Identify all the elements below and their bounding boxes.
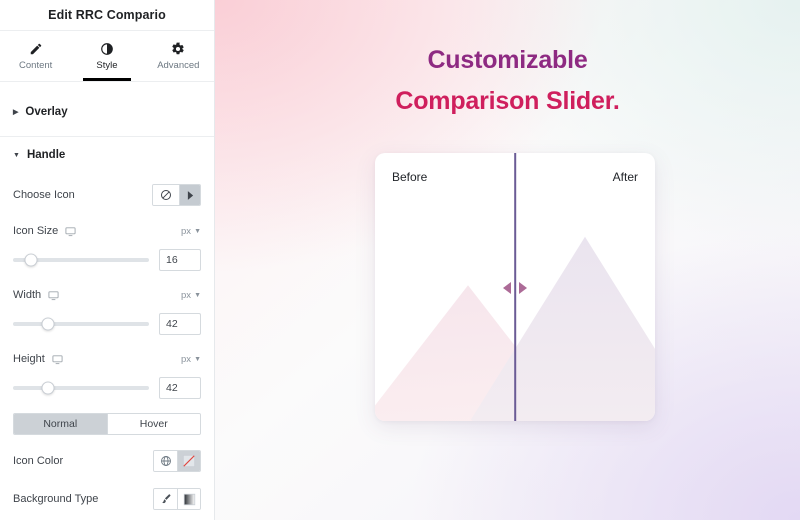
choose-icon-row: Choose Icon [0, 181, 214, 209]
height-unit-label: px [181, 354, 191, 365]
width-slider[interactable] [13, 322, 149, 326]
no-color-swatch-icon[interactable] [177, 451, 200, 471]
height-slider-thumb[interactable] [42, 382, 55, 395]
gear-icon [171, 41, 185, 56]
icon-color-controls [153, 450, 201, 472]
width-row: Width px ▼ [0, 281, 214, 309]
height-slider-row: 42 [0, 373, 214, 403]
no-symbol-icon[interactable] [153, 185, 179, 205]
before-label: Before [392, 170, 427, 184]
tab-style-label: Style [96, 60, 117, 71]
page-headline: Customizable Comparison Slider. [215, 40, 800, 122]
section-overlay[interactable]: ▶ Overlay [0, 94, 214, 130]
chevron-down-icon: ▼ [194, 228, 201, 235]
icon-size-unit-label: px [181, 226, 191, 237]
width-unit-label: px [181, 290, 191, 301]
caret-down-icon: ▼ [13, 152, 20, 159]
icon-size-text: Icon Size [13, 225, 58, 237]
tab-style[interactable]: Style [71, 31, 142, 81]
width-label: Width [13, 289, 181, 301]
height-row: Height px ▼ [0, 345, 214, 373]
contrast-icon [100, 41, 114, 56]
background-type-row: Background Type [0, 485, 214, 513]
icon-size-slider-row: 16 [0, 245, 214, 275]
height-unit[interactable]: px ▼ [181, 354, 201, 365]
panel-title: Edit RRC Compario [0, 0, 214, 30]
editor-window: Edit RRC Compario Content Style Advanced [0, 0, 800, 520]
icon-size-unit[interactable]: px ▼ [181, 226, 201, 237]
desktop-icon[interactable] [48, 290, 59, 301]
height-slider[interactable] [13, 386, 149, 390]
comparison-slider[interactable]: Before After [375, 153, 655, 421]
caret-right-icon: ▶ [13, 109, 18, 116]
after-label: After [613, 170, 638, 184]
settings-panel: Edit RRC Compario Content Style Advanced [0, 0, 215, 520]
desktop-icon[interactable] [65, 226, 76, 237]
icon-size-label: Icon Size [13, 225, 181, 237]
background-type-controls [153, 488, 201, 510]
width-slider-row: 42 [0, 309, 214, 339]
tab-content[interactable]: Content [0, 31, 71, 81]
choose-icon-label: Choose Icon [13, 189, 152, 201]
section-handle-label: Handle [27, 149, 65, 161]
panel-tabs: Content Style Advanced [0, 30, 214, 82]
tab-advanced[interactable]: Advanced [143, 31, 214, 81]
icon-color-label: Icon Color [13, 455, 153, 467]
brush-icon[interactable] [154, 489, 177, 509]
caret-right-icon[interactable] [179, 185, 200, 205]
width-slider-thumb[interactable] [42, 318, 55, 331]
height-text: Height [13, 353, 45, 365]
state-toggle: Normal Hover [13, 413, 201, 435]
headline-line-1: Customizable [215, 40, 800, 81]
section-handle[interactable]: ▼ Handle [0, 137, 214, 173]
gradient-icon[interactable] [177, 489, 200, 509]
chevron-down-icon: ▼ [194, 292, 201, 299]
choose-icon-picker[interactable] [152, 184, 201, 206]
icon-size-slider[interactable] [13, 258, 149, 262]
globe-icon[interactable] [154, 451, 177, 471]
tab-advanced-label: Advanced [157, 60, 199, 71]
state-normal-button[interactable]: Normal [14, 414, 107, 434]
slider-handle[interactable] [503, 282, 527, 294]
icon-size-slider-thumb[interactable] [24, 254, 37, 267]
height-input[interactable]: 42 [159, 377, 201, 399]
pencil-icon [29, 41, 43, 56]
triangle-right-icon[interactable] [519, 282, 527, 294]
icon-size-input[interactable]: 16 [159, 249, 201, 271]
headline-line-2: Comparison Slider. [215, 81, 800, 122]
width-text: Width [13, 289, 41, 301]
chevron-down-icon: ▼ [194, 356, 201, 363]
state-hover-button[interactable]: Hover [107, 414, 201, 434]
section-overlay-label: Overlay [25, 106, 67, 118]
background-type-label: Background Type [13, 493, 153, 505]
icon-color-row: Icon Color [0, 447, 214, 475]
triangle-left-icon[interactable] [503, 282, 511, 294]
desktop-icon[interactable] [52, 354, 63, 365]
width-unit[interactable]: px ▼ [181, 290, 201, 301]
tab-content-label: Content [19, 60, 52, 71]
width-input[interactable]: 42 [159, 313, 201, 335]
preview-canvas: Customizable Comparison Slider. Before A… [215, 0, 800, 520]
height-label: Height [13, 353, 181, 365]
icon-size-row: Icon Size px ▼ [0, 217, 214, 245]
